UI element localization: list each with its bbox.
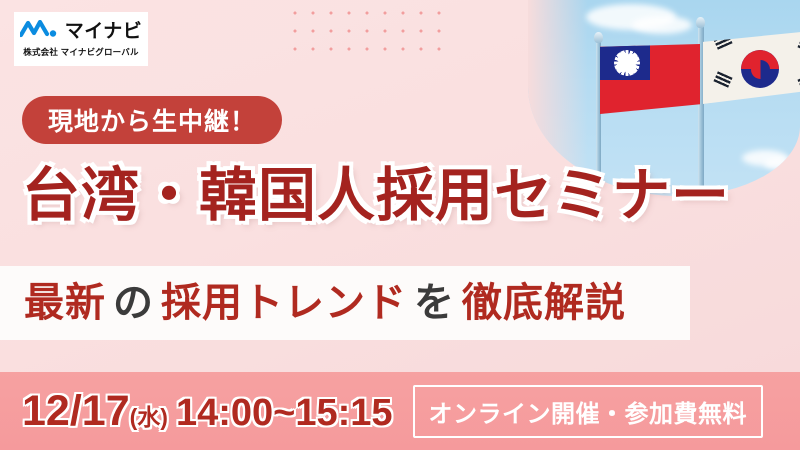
- event-time: 14:00~15:15: [176, 392, 393, 434]
- live-badge: 現地から生中継！: [22, 96, 282, 144]
- dot-grid-decoration: [286, 4, 446, 62]
- subtitle-part-2: の: [113, 281, 154, 325]
- subtitle-part-4: を: [414, 281, 455, 325]
- live-badge-label: 現地から生中継！: [48, 102, 256, 138]
- trigram-icon: [713, 33, 732, 50]
- taeguk-icon: [741, 50, 779, 88]
- page-title: 台湾・韓国人採用セミナー: [22, 167, 730, 225]
- trigram-icon: [713, 71, 732, 88]
- taiwan-sun-icon: [618, 54, 636, 72]
- cloud-shape: [632, 16, 692, 34]
- subtitle: 最新の採用トレンドを徹底解説: [24, 276, 626, 330]
- cloud-shape: [764, 158, 798, 170]
- south-korea-flag-icon: [703, 30, 800, 104]
- taiwan-flag-icon: [600, 44, 700, 114]
- taiwan-flag-canton: [600, 44, 650, 80]
- subtitle-part-1: 最新: [24, 281, 106, 325]
- mynavi-wave-icon: [20, 20, 60, 42]
- event-info-bar: 12/17(水)14:00~15:15 オンライン開催・参加費無料: [0, 372, 800, 450]
- subtitle-part-3: 採用トレンド: [161, 281, 407, 325]
- event-date: 12/17: [22, 387, 130, 435]
- flagpole-knob: [696, 17, 705, 28]
- mynavi-logo[interactable]: マイナビ 株式会社 マイナビグローバル: [14, 12, 148, 66]
- event-day-of-week: (水): [130, 404, 168, 430]
- seminar-banner: マイナビ 株式会社 マイナビグローバル 現地から生中継！ 台湾・韓国人採用セミナ…: [0, 0, 800, 450]
- logo-company-name: 株式会社 マイナビグローバル: [23, 46, 138, 58]
- event-note-badge: オンライン開催・参加費無料: [413, 385, 764, 438]
- subtitle-part-5: 徹底解説: [462, 281, 626, 325]
- flagpole-knob: [594, 32, 603, 43]
- event-datetime: 12/17(水)14:00~15:15: [22, 390, 393, 433]
- logo-wordmark: マイナビ: [65, 22, 143, 41]
